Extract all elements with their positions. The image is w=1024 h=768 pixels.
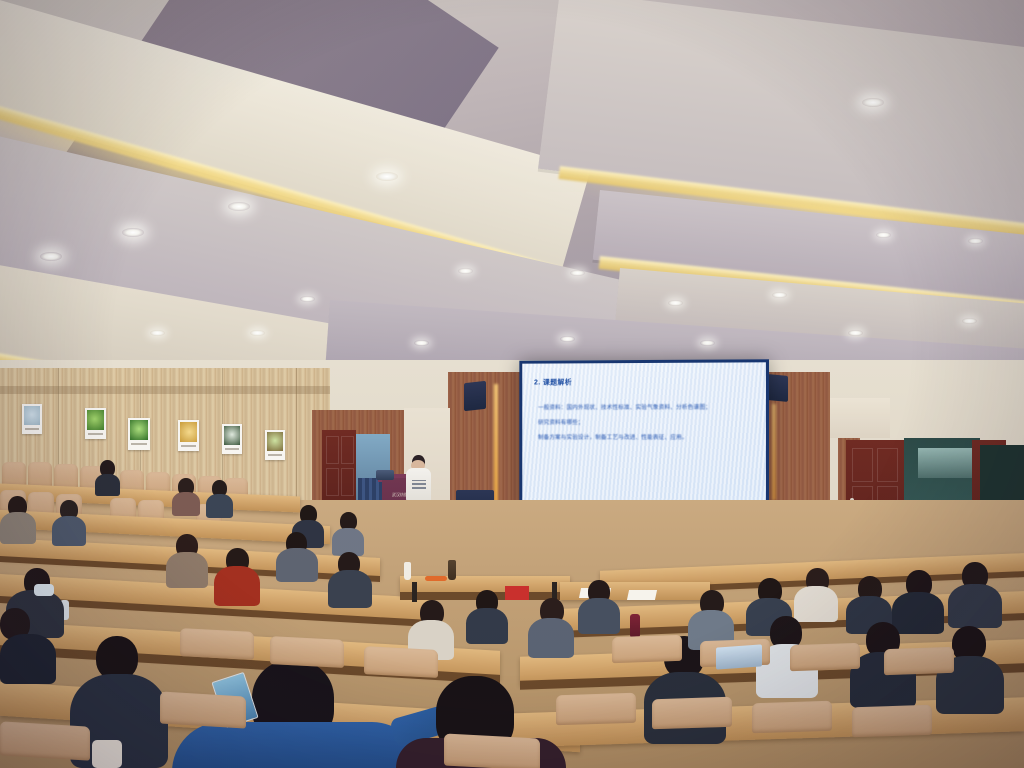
attendee-red-sweater (214, 566, 260, 606)
chair[interactable] (364, 646, 438, 678)
downlight (560, 336, 575, 342)
chair[interactable] (612, 635, 682, 663)
attendee-body (466, 608, 508, 644)
attendee-body (528, 618, 574, 658)
downlight (228, 202, 250, 211)
red-folder (505, 586, 529, 600)
downlight (458, 268, 473, 274)
chair[interactable] (270, 636, 344, 668)
device-screen[interactable] (716, 644, 762, 669)
left-wall-trim (0, 386, 330, 394)
downlight (376, 172, 398, 181)
attendee-body (276, 548, 318, 582)
podium-microphone (376, 470, 394, 480)
attendee-body (0, 634, 56, 684)
face-mask (34, 584, 54, 596)
wall-poster (222, 424, 242, 454)
downlight (300, 296, 315, 302)
attendee-body (166, 552, 208, 588)
downlight (862, 98, 884, 107)
wall-poster (128, 418, 150, 450)
downlight (122, 228, 144, 237)
attendee-body (172, 492, 200, 516)
panel-seam (296, 368, 297, 503)
chair[interactable] (444, 733, 540, 768)
chair[interactable] (160, 691, 246, 728)
chair[interactable] (790, 643, 860, 671)
thermos (630, 614, 640, 638)
desk-item (425, 576, 447, 581)
desk-leg (412, 582, 417, 602)
chair[interactable] (852, 705, 932, 738)
downlight (968, 238, 983, 244)
slide-bullet: 研究资料有哪些； (538, 418, 584, 426)
attendee-body (328, 570, 372, 608)
wall-mounted-speaker (464, 381, 486, 411)
vertical-warm-light-strip (494, 384, 498, 518)
downlight (40, 252, 62, 261)
attendee-blue-jacket (172, 722, 422, 768)
chair[interactable] (884, 647, 954, 675)
wall-poster (22, 404, 42, 434)
lecture-hall-photo: 2. 课题解析 一般资料：国内外现状、技术性标准、实验气象资料、分析色谱图； 研… (0, 0, 1024, 768)
downlight (150, 330, 165, 336)
chair[interactable] (180, 628, 254, 660)
attendee-body (578, 598, 620, 634)
ceiling (0, 0, 1024, 400)
downlight (668, 300, 683, 306)
paper-sheet (627, 590, 657, 600)
attendee-body (892, 592, 944, 634)
attendee-body (948, 584, 1002, 628)
downlight (876, 232, 891, 238)
slide-bullet: 一般资料：国内外现状、技术性标准、实验气象资料、分析色谱图； (538, 403, 711, 411)
downlight (848, 330, 863, 336)
downlight (414, 340, 429, 346)
attendee-body (52, 516, 86, 546)
projection-screen: 2. 课题解析 一般资料：国内外现状、技术性标准、实验气象资料、分析色谱图； 研… (522, 362, 766, 513)
downlight (962, 318, 977, 324)
chair[interactable] (556, 693, 636, 726)
wall-poster (265, 430, 285, 460)
wall-segment-light (830, 398, 890, 438)
attendee-body (794, 586, 838, 622)
attendee-body (206, 494, 233, 518)
water-bottle (404, 562, 411, 580)
downlight (250, 330, 265, 336)
corridor-window (918, 448, 972, 478)
projection-screen-frame: 2. 课题解析 一般资料：国内外现状、技术性标准、实验气象资料、分析色谱图； 研… (519, 359, 769, 516)
chair[interactable] (652, 697, 732, 730)
wall-poster (178, 420, 199, 451)
wall-mounted-speaker (768, 374, 788, 402)
water-bottle (448, 560, 456, 580)
chair[interactable] (752, 701, 832, 734)
downlight (700, 340, 715, 346)
slide-bullet: 制备方案与实验设计，制备工艺与改进、性能表征、应用。 (538, 433, 688, 441)
attendee-body (95, 474, 120, 496)
downlight (772, 292, 787, 298)
presenter-shirt-print (412, 480, 426, 489)
vertical-warm-light-strip (772, 404, 776, 500)
slide-heading: 2. 课题解析 (534, 377, 572, 387)
chair[interactable] (0, 721, 90, 760)
cup (92, 740, 122, 768)
downlight (570, 270, 585, 276)
wall-poster (85, 408, 106, 439)
attendee-body (0, 512, 36, 544)
